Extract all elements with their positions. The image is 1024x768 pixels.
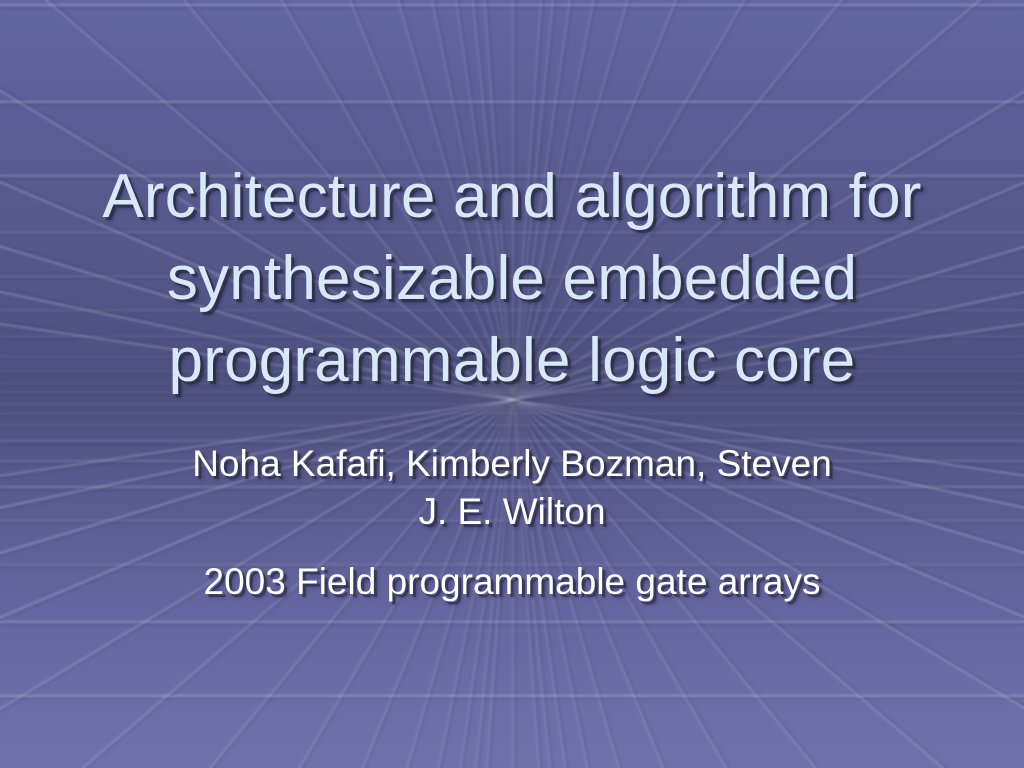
title-slide: Architecture and algorithm for synthesiz… [0,0,1024,768]
venue-line: 2003 Field programmable gate arrays [120,558,904,606]
slide-content: Architecture and algorithm for synthesiz… [0,0,1024,768]
title-line-2: synthesizable embedded [40,238,984,320]
subtitle: Noha Kafafi, Kimberly Bozman, Steven J. … [120,440,904,606]
title-line-1: Architecture and algorithm for [40,156,984,238]
authors-line-2: J. E. Wilton [120,488,904,536]
title-line-3: programmable logic core [40,320,984,402]
page-title: Architecture and algorithm for synthesiz… [40,156,984,402]
authors-line-1: Noha Kafafi, Kimberly Bozman, Steven [120,440,904,488]
